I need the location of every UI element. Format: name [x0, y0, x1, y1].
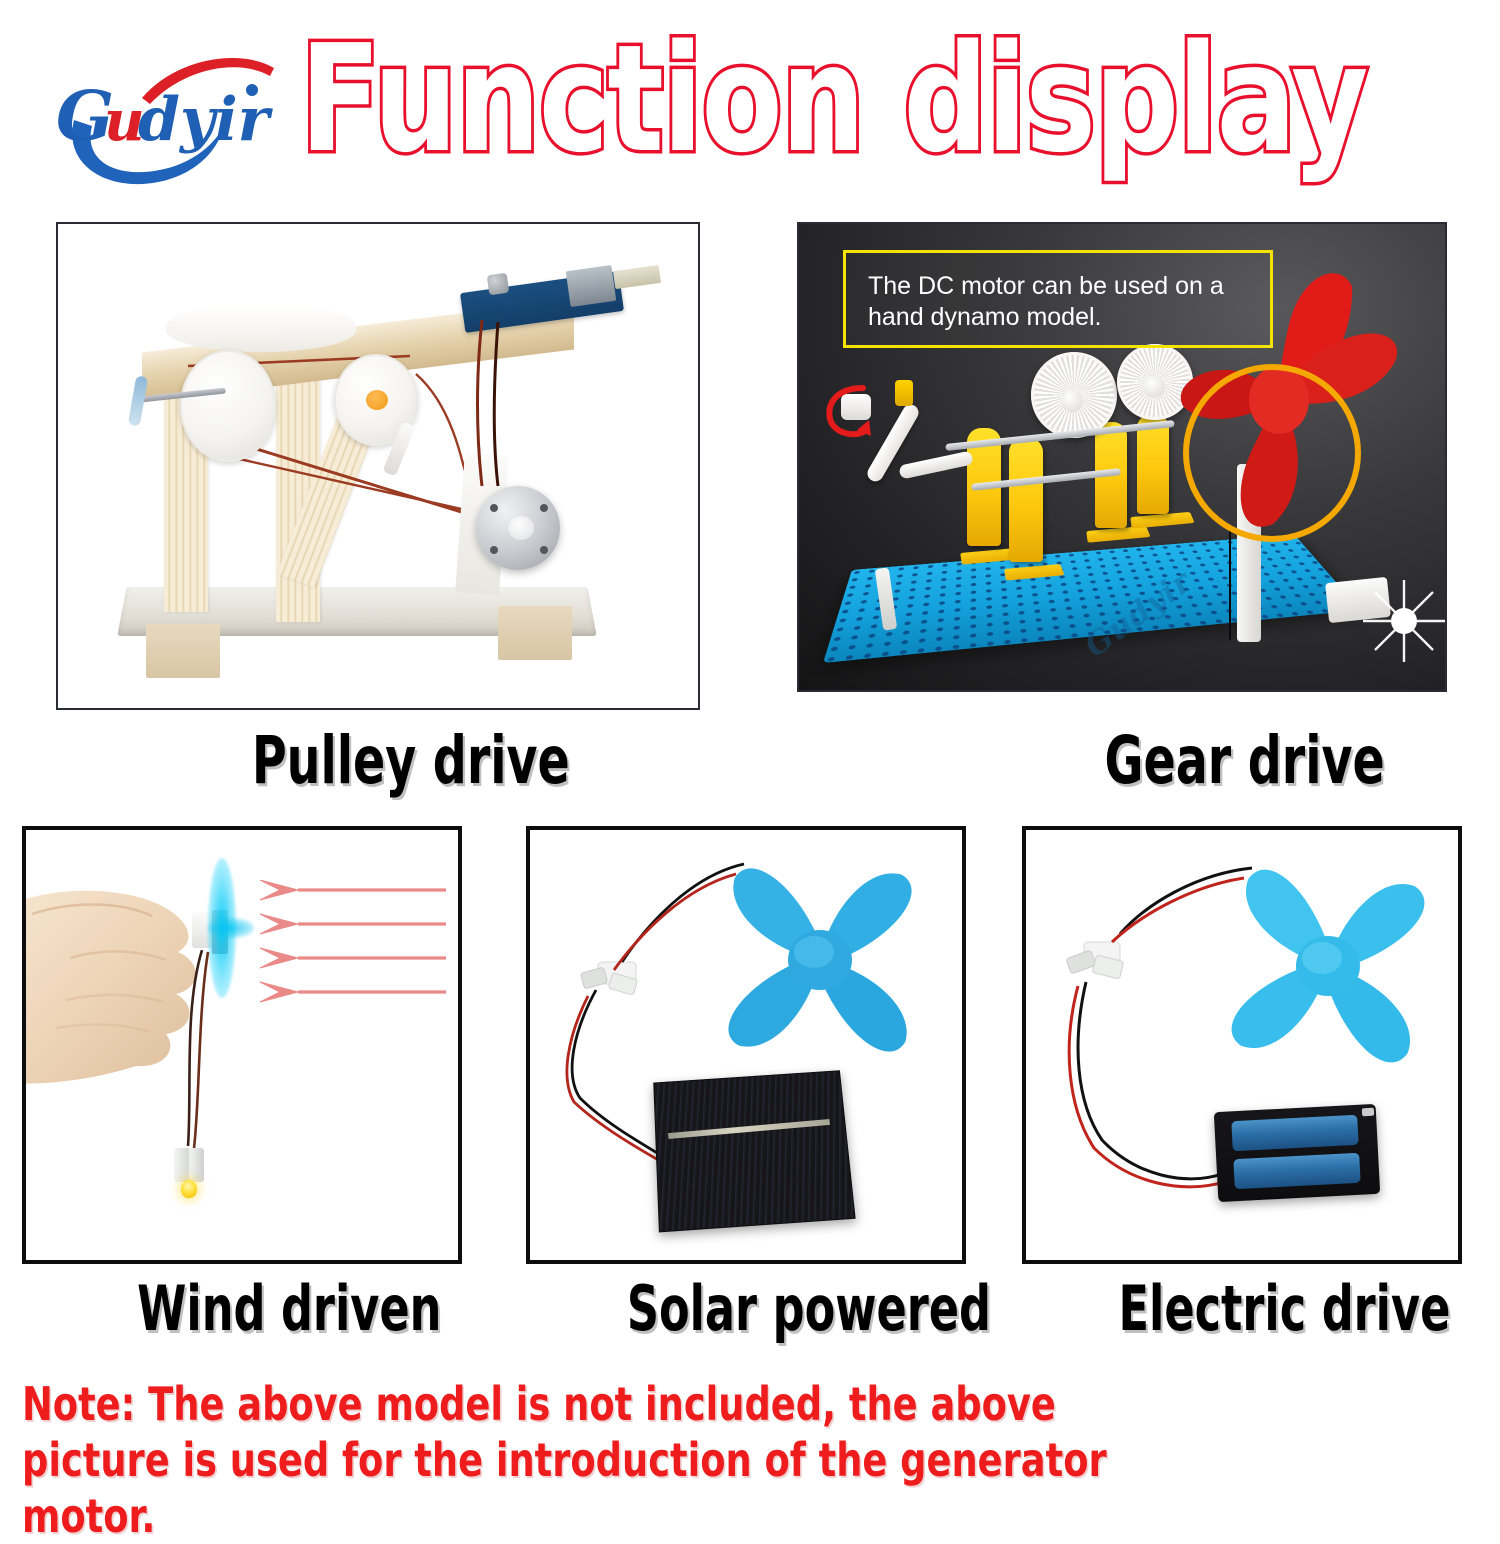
lit-led: [181, 1180, 197, 1198]
gear-hub: [1143, 376, 1165, 398]
motor-vent-hole: [540, 546, 548, 554]
caption-wind-driven: Wind driven: [137, 1272, 441, 1345]
product-feature-image: G u dyir Function display: [0, 0, 1500, 1500]
pulley-foot-right: [498, 606, 572, 660]
wind-motor-wires: [166, 950, 246, 1160]
motor-vent-hole: [490, 546, 498, 554]
panel-gear-drive: Gudyir: [797, 222, 1447, 692]
fan-wire: [1229, 530, 1231, 640]
motor-vent-hole: [540, 504, 548, 512]
panel-pulley-drive: [56, 222, 700, 710]
pulley-drive-photo: [58, 224, 694, 704]
pulley-orange-hub: [366, 390, 388, 410]
gear-hub: [1061, 390, 1083, 412]
motor-vent-hole: [490, 504, 498, 512]
pulley-foot-left: [146, 624, 220, 678]
disclaimer-note: Note: The above model is not included, t…: [22, 1376, 1190, 1544]
page-title: Function display: [300, 14, 1256, 184]
wind-direction-arrows: [258, 880, 448, 1010]
callout-box: The DC motor can be used on a hand dynam…: [843, 250, 1273, 348]
battery-terminal: [1362, 1108, 1374, 1117]
highlight-ring: [1183, 364, 1361, 542]
solar-panel: [653, 1070, 855, 1232]
solar-fan-blades: [700, 848, 940, 1083]
spinning-blade-blur-horizontal: [208, 918, 254, 938]
pulley-upper-spool: [166, 304, 356, 352]
logo-i-dot: [246, 84, 258, 96]
caption-electric-drive: Electric drive: [1119, 1272, 1451, 1345]
caption-pulley-drive: Pulley drive: [252, 722, 570, 799]
board-connector-tip: [613, 265, 661, 289]
lamp-light-burst-icon: [1359, 576, 1447, 666]
electric-motor-connector: [1064, 934, 1144, 994]
panel-solar-powered: [526, 826, 966, 1264]
brand-logo: G u dyir: [38, 34, 318, 194]
pulley-wheel-left: [180, 350, 276, 462]
electric-fan-blades: [1212, 856, 1452, 1091]
board-capacitor: [487, 273, 510, 296]
panel-wind-driven: [22, 826, 462, 1264]
callout-text: The DC motor can be used on a hand dynam…: [868, 271, 1258, 333]
panel-electric-drive: [1022, 826, 1462, 1264]
caption-gear-drive: Gear drive: [1104, 722, 1384, 799]
usb-port: [566, 265, 617, 307]
page-title-wrap: Function display: [300, 14, 1495, 199]
led-holder: [174, 1148, 204, 1182]
solar-motor-connector: [576, 950, 632, 990]
yellow-support: [1009, 438, 1043, 562]
header: G u dyir Function display: [0, 0, 1500, 205]
rotation-arrow-icon: [819, 376, 881, 440]
pulley-motor-shaft: [508, 516, 534, 540]
caption-solar-powered: Solar powered: [627, 1272, 991, 1345]
crank-yellow-collar: [895, 380, 913, 406]
